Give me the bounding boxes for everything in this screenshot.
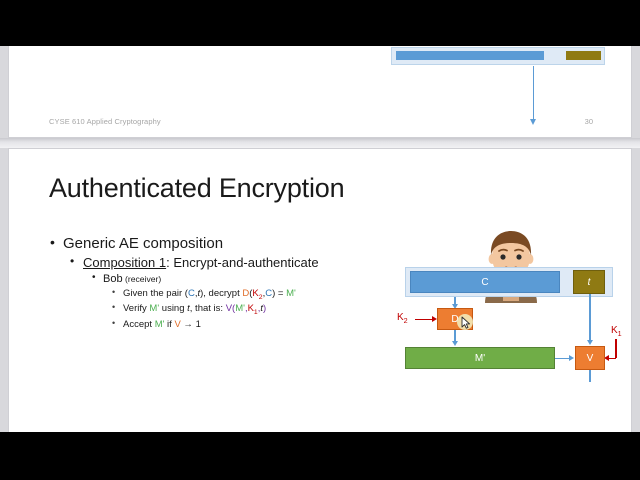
bullet-level2: Composition 1: Encrypt-and-authenticate	[49, 255, 389, 270]
current-slide: Authenticated Encryption Generic AE comp…	[8, 148, 632, 432]
arrow-k1-horizontal	[608, 358, 616, 360]
l2-t7: )	[263, 303, 266, 314]
key-k2-subscript: 2	[404, 316, 408, 325]
arrow-m-to-v-head	[569, 355, 574, 361]
mouse-pointer-icon	[457, 314, 475, 332]
l3-message: M'	[155, 319, 165, 330]
key-k1-letter: K	[611, 325, 618, 336]
arrow-v-output-line	[589, 370, 591, 382]
key-k1-subscript: 1	[618, 329, 622, 338]
bullet-level4-line2: Verify M' using t, that is: V(M',K1,t)	[49, 303, 389, 316]
l3-t1: Accept	[123, 319, 155, 330]
arrow-k1-vertical	[615, 339, 617, 358]
l1-ciphertext: C	[188, 288, 195, 299]
bullet-level2-underlined: Composition 1	[83, 255, 166, 270]
block-message-label: M'	[475, 353, 485, 364]
letterbox-bottom-bar	[0, 432, 640, 480]
l1-t1: Given the pair (	[123, 288, 188, 299]
arrow-t-to-v-head	[587, 340, 593, 345]
key-k2-letter: K	[397, 312, 404, 323]
arrow-m-to-v-line	[555, 358, 570, 360]
previous-ciphertext-block	[396, 51, 544, 60]
l1-t3: ), decrypt	[200, 288, 242, 299]
bullet-level2-rest: : Encrypt-and-authenticate	[166, 255, 318, 270]
key-k1-label: K1	[611, 325, 622, 338]
bullet-level3-name: Bob	[103, 273, 123, 285]
arrow-d-to-m-head	[452, 341, 458, 346]
bullet-level1: Generic AE composition	[49, 235, 389, 252]
key-k2-label: K2	[397, 312, 408, 325]
arrow-k2-line	[415, 319, 433, 321]
bullet-level1-text: Generic AE composition	[63, 235, 223, 252]
ae-composition-diagram: C t K2 D M'	[389, 233, 632, 432]
block-verify: V	[575, 346, 605, 370]
l3-t2: if	[164, 319, 174, 330]
document-viewer[interactable]: CYSE 610 Applied Cryptography 30 Authent…	[0, 0, 640, 480]
slide-separator	[0, 138, 640, 148]
bullet-level4-line3: Accept M' if V → 1	[49, 319, 389, 330]
bullet-list: Generic AE composition Composition 1: En…	[49, 235, 389, 332]
previous-slide-diagram-panel	[391, 47, 605, 65]
page-title: Authenticated Encryption	[49, 173, 344, 204]
l2-message-2: M'	[235, 303, 245, 314]
l2-t2: using	[159, 303, 187, 314]
slide-footer: CYSE 610 Applied Cryptography 30	[9, 113, 632, 138]
block-tag-label: t	[588, 277, 591, 288]
bullet-level4-line1: Given the pair (C,t), decrypt D(K2,C) = …	[49, 288, 389, 301]
footer-course-label: CYSE 610 Applied Cryptography	[49, 117, 161, 126]
l2-t1: Verify	[123, 303, 149, 314]
l1-t6: ) =	[272, 288, 286, 299]
arrow-t-to-v-line	[589, 294, 591, 341]
l2-t3: , that is:	[190, 303, 226, 314]
block-ciphertext: C	[410, 271, 560, 293]
previous-tag-block	[566, 51, 601, 60]
letterbox-top-bar	[0, 0, 640, 46]
block-verify-label: V	[587, 353, 594, 364]
l3-t3: → 1	[181, 319, 201, 330]
l1-message: M'	[286, 288, 296, 299]
previous-slide: CYSE 610 Applied Cryptography 30	[8, 44, 632, 138]
block-tag: t	[573, 270, 605, 294]
block-ciphertext-label: C	[481, 277, 488, 288]
footer-page-number: 30	[585, 117, 593, 126]
block-message: M'	[405, 347, 555, 369]
l2-message: M'	[149, 303, 159, 314]
bullet-level3-role: (receiver)	[125, 274, 161, 284]
bullet-level3: Bob (receiver)	[49, 273, 389, 285]
